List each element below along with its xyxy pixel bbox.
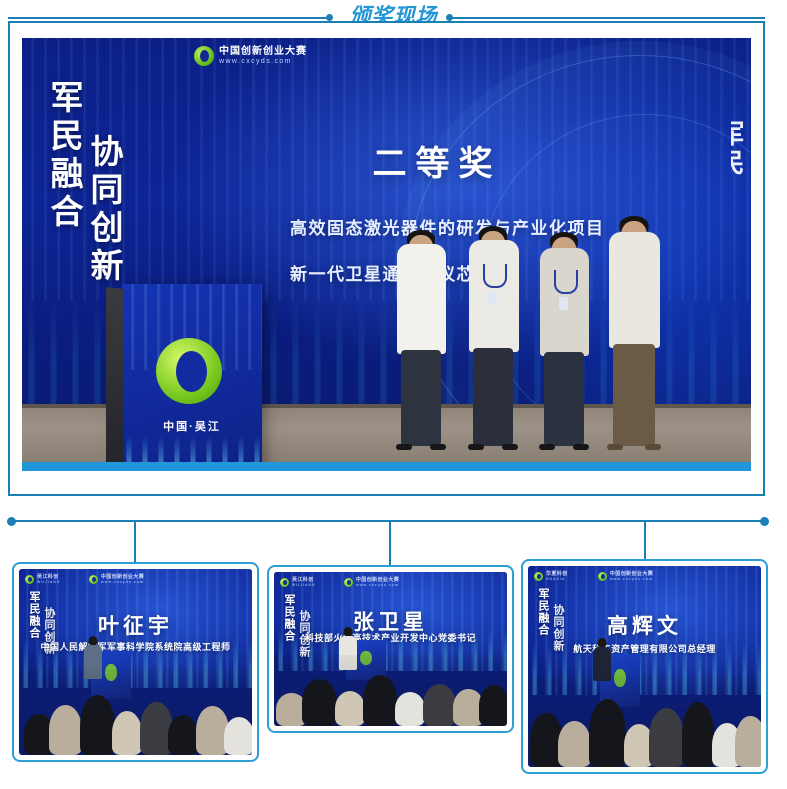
recipient-lanyard [483,264,507,288]
recipient-badge [488,291,497,304]
audience-member [112,711,142,755]
award-title: 二等奖 [272,136,602,185]
connector-horizontal-line [11,520,765,522]
c-leaf-logo-icon [194,46,214,66]
stage-slogan-secondary: 协同创新 [80,134,128,286]
podium-city-skyline [122,436,262,462]
competition-logo-url: www.cxcyds.com [356,583,399,587]
c-leaf-logo-icon [89,575,98,584]
recipient-lanyard [554,270,578,294]
thumbnail-card-1[interactable]: 吴江科创 WUJIANG 中国创新创业大赛 www.cxcyds.com 军民融… [12,562,259,762]
connector-branch-2 [389,521,391,566]
competition-logo-name: 中国创新创业大赛 [219,47,307,58]
audience-member [558,721,591,767]
header-rule-right [452,17,765,19]
presenter-shirt [609,232,660,348]
host-logo-icon [25,575,34,584]
main-photo-frame: 中国创新创业大赛 www.cxcyds.com 军民融合 协同创新 二等奖 高效… [8,21,765,496]
thumb-host-logo: 吴江科创 WUJIANG [25,574,61,585]
wall-right-edge-text: 军民 [731,120,749,178]
audience-member [224,717,252,755]
speaker-role-3: 航天科工资产管理有限公司总经理 [528,642,761,655]
audience-member [335,691,365,726]
speaker-name-1: 叶征宇 [19,610,252,640]
recipient-trousers [544,352,584,446]
speaker-role-2: 科技部火炬高技术产业开发中心党委书记 [274,631,507,644]
thumbnail-connector [0,496,787,566]
stage-podium: 中国·吴江 [122,284,262,462]
audience-member [49,705,82,755]
audience-member [735,716,761,767]
thumb-competition-logo: 中国创新创业大赛 www.cxcyds.com [89,574,144,585]
award-recipient-1 [392,230,450,446]
host-logo-icon [534,572,543,581]
recipient-trousers [473,348,513,446]
speaker-name-3: 高辉文 [528,610,761,640]
competition-logo-url: www.cxcyds.com [219,58,307,65]
recipient-shoe-right [573,444,589,450]
thumb-host-logo: 吴江科创 WUJIANG [280,577,316,588]
audience-member [479,685,507,726]
competition-logo-url: www.cxcyds.com [610,577,653,581]
podium-caption: 中国·吴江 [122,418,262,434]
recipient-shoe-right [502,444,518,450]
audience-silhouettes [274,655,507,726]
recipient-shoe-left [539,444,555,450]
audience-member [423,684,456,726]
photo-bottom-accent-strip [22,462,751,471]
thumb-competition-logo: 中国创新创业大赛 www.cxcyds.com [344,577,399,588]
competition-logo: 中国创新创业大赛 www.cxcyds.com [194,46,307,66]
recipient-trousers [401,350,441,446]
audience-member [649,708,684,767]
audience-member [80,695,115,755]
host-logo-sub: WUJIANG [37,580,61,584]
audience-member [589,699,626,767]
connector-branch-3 [644,521,646,560]
recipient-shoe-left [468,444,484,450]
recipient-shoe-left [396,444,412,450]
speaker-role-1: 中国人民解放军军事科学院系统院高级工程师 [19,640,252,653]
award-recipient-2 [464,226,522,446]
c-leaf-logo-icon [344,578,353,587]
recipient-badge [559,297,568,310]
audience-member [395,692,425,726]
thumb-competition-logo: 中国创新创业大赛 www.cxcyds.com [598,571,653,582]
presenter-shoe-right [645,444,661,450]
audience-member [168,715,198,755]
thumbnail-card-3[interactable]: 华夏科创 HUAXIA 中国创新创业大赛 www.cxcyds.com 军民融合… [521,559,768,774]
thumbnail-card-2[interactable]: 吴江科创 WUJIANG 中国创新创业大赛 www.cxcyds.com 军民融… [267,565,514,733]
connector-dot-right-icon [760,517,769,526]
thumb-host-logo: 华夏科创 HUAXIA [534,571,568,582]
host-logo-sub: WUJIANG [292,583,316,587]
host-logo-sub: HUAXIA [546,577,568,581]
audience-silhouettes [19,669,252,755]
audience-silhouettes [528,675,761,767]
presenter-trousers [613,344,655,446]
thumbnail-photo-1[interactable]: 吴江科创 WUJIANG 中国创新创业大赛 www.cxcyds.com 军民融… [19,569,252,755]
award-recipient-3 [535,232,593,446]
recipient-shirt [397,244,446,354]
audience-member [682,702,715,767]
recipient-shoe-right [430,444,446,450]
audience-member [302,679,337,726]
thumbnail-photo-2[interactable]: 吴江科创 WUJIANG 中国创新创业大赛 www.cxcyds.com 军民融… [274,572,507,726]
main-photo[interactable]: 中国创新创业大赛 www.cxcyds.com 军民融合 协同创新 二等奖 高效… [22,38,751,462]
podium-c-leaf-logo-icon [156,338,222,404]
presenter-shoe-left [607,444,623,450]
connector-branch-1 [134,521,136,563]
thumbnail-photo-3[interactable]: 华夏科创 HUAXIA 中国创新创业大赛 www.cxcyds.com 军民融合… [528,566,761,767]
c-leaf-logo-icon [598,572,607,581]
audience-member [363,675,398,726]
award-presenter [604,216,664,446]
competition-logo-url: www.cxcyds.com [101,580,144,584]
host-logo-icon [280,578,289,587]
